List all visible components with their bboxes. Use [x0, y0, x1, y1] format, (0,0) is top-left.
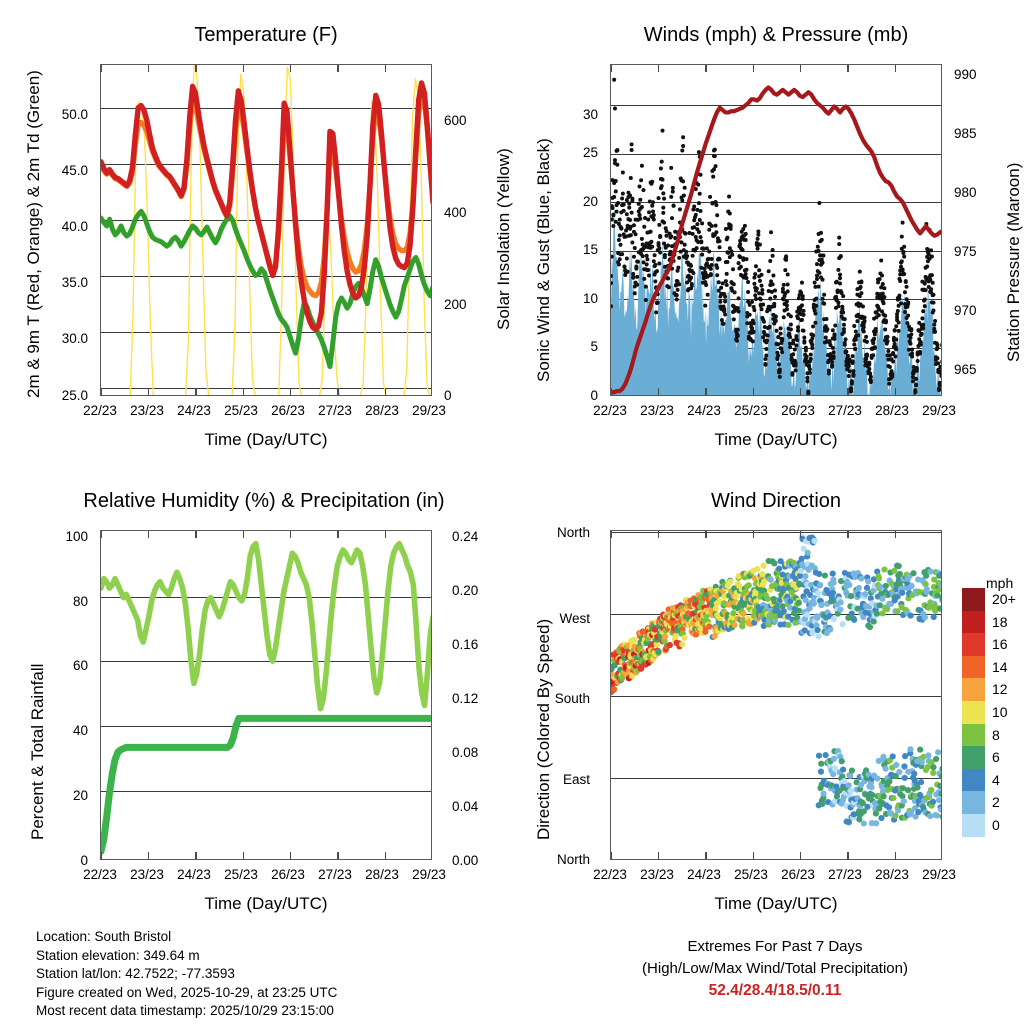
temperature-plot-area — [100, 64, 432, 396]
winds-ytick: 20 — [546, 194, 598, 209]
winds-xtick: 26/23 — [776, 403, 820, 418]
axis-tick — [753, 852, 754, 859]
colorbar-label: 4 — [992, 772, 1000, 788]
winds-y2tick: 970 — [954, 303, 977, 318]
colorbar-label: 14 — [992, 659, 1008, 675]
axis-tick — [753, 388, 754, 395]
axis-tick — [847, 531, 848, 538]
humidity-y2tick: 0.08 — [452, 745, 478, 760]
winddir-ytick: North — [512, 852, 590, 867]
winds-xtick: 29/23 — [917, 403, 961, 418]
winddir-points — [611, 531, 942, 860]
axis-tick — [337, 65, 338, 72]
colorbar-swatch — [962, 678, 985, 701]
humidity-y2tick: 0.16 — [452, 637, 478, 652]
axis-tick — [290, 531, 291, 538]
temperature-xtick: 26/23 — [266, 403, 310, 418]
axis-tick — [385, 852, 386, 859]
figure-created: Figure created on Wed, 2025-10-29, at 23… — [36, 984, 337, 1003]
axis-tick — [243, 65, 244, 72]
winddir-ytick: East — [512, 772, 590, 787]
axis-tick — [895, 852, 896, 859]
extremes-heading: Extremes For Past 7 Days — [560, 936, 990, 958]
winds-y2tick: 990 — [954, 67, 977, 82]
humidity-xtick: 22/23 — [78, 867, 122, 882]
station-info: Location: South Bristol Station elevatio… — [36, 928, 337, 1021]
winds-y2tick: 965 — [954, 362, 977, 377]
humidity-xtick: 26/23 — [266, 867, 310, 882]
winds-xtick: 28/23 — [870, 403, 914, 418]
temperature-xlabel: Time (Day/UTC) — [100, 430, 432, 450]
colorbar-label: 20+ — [992, 591, 1016, 607]
temperature-ytick: 45.0 — [36, 163, 88, 178]
axis-tick — [610, 65, 611, 72]
humidity-y2tick: 0.24 — [452, 529, 478, 544]
winds-xtick: 23/23 — [635, 403, 679, 418]
humidity-y2tick: 0.12 — [452, 691, 478, 706]
winddir-title: Wind Direction — [610, 490, 942, 513]
axis-tick — [148, 65, 149, 72]
winds-xtick: 22/23 — [588, 403, 632, 418]
axis-tick — [100, 388, 101, 395]
humidity-xlabel: Time (Day/UTC) — [100, 894, 432, 914]
axis-tick — [385, 388, 386, 395]
axis-tick — [100, 531, 101, 538]
colorbar-label: 2 — [992, 794, 1000, 810]
winds-y2tick: 975 — [954, 244, 977, 259]
axis-tick — [337, 531, 338, 538]
wind-speed-colorbar — [962, 588, 985, 837]
most-recent-timestamp: Most recent data timestamp: 2025/10/29 2… — [36, 1002, 337, 1021]
axis-tick — [753, 65, 754, 72]
winds-ytick: 0 — [546, 388, 598, 403]
winds-ytick: 10 — [546, 291, 598, 306]
axis-tick — [290, 852, 291, 859]
axis-tick — [658, 388, 659, 395]
colorbar-swatch — [962, 588, 985, 611]
humidity-xtick: 23/23 — [125, 867, 169, 882]
station-latlon: Station lat/lon: 42.7522; -77.3593 — [36, 965, 337, 984]
winds-ytick: 30 — [546, 107, 598, 122]
axis-tick — [705, 65, 706, 72]
axis-tick — [337, 388, 338, 395]
axis-tick — [243, 852, 244, 859]
extremes-values: 52.4/28.4/18.5/0.11 — [560, 980, 990, 1002]
axis-tick — [847, 388, 848, 395]
winds-series — [611, 65, 942, 396]
axis-tick — [705, 531, 706, 538]
winddir-plot-area — [610, 530, 942, 860]
humidity-xtick: 24/23 — [172, 867, 216, 882]
temperature-y2tick: 400 — [444, 205, 467, 220]
humidity-ytick: 80 — [36, 594, 88, 609]
axis-tick — [148, 852, 149, 859]
station-location: Location: South Bristol — [36, 928, 337, 947]
winds-plot-area — [610, 64, 942, 396]
axis-tick — [195, 388, 196, 395]
winddir-ylabel: Direction (Colored By Speed) — [534, 619, 554, 840]
colorbar-swatch — [962, 814, 985, 837]
colorbar-swatch — [962, 611, 985, 634]
colorbar-swatch — [962, 724, 985, 747]
axis-tick — [100, 65, 101, 72]
winds-y2tick: 980 — [954, 185, 977, 200]
temperature-ytick: 35.0 — [36, 275, 88, 290]
axis-tick — [895, 65, 896, 72]
colorbar-label: 16 — [992, 636, 1008, 652]
extremes-summary: Extremes For Past 7 Days (High/Low/Max W… — [560, 936, 990, 1002]
humidity-plot-area — [100, 530, 432, 860]
colorbar-swatch — [962, 656, 985, 679]
axis-tick — [800, 388, 801, 395]
winds-ytick: 5 — [546, 339, 598, 354]
humidity-ytick: 100 — [36, 529, 88, 544]
axis-tick — [610, 531, 611, 538]
temperature-y2tick: 600 — [444, 113, 467, 128]
humidity-xtick: 25/23 — [219, 867, 263, 882]
axis-tick — [290, 388, 291, 395]
humidity-y2tick: 0.00 — [452, 853, 478, 868]
humidity-y2tick: 0.20 — [452, 583, 478, 598]
axis-tick — [148, 531, 149, 538]
colorbar-title: mph — [986, 575, 1013, 591]
winddir-xlabel: Time (Day/UTC) — [610, 894, 942, 914]
axis-tick — [705, 388, 706, 395]
winds-xlabel: Time (Day/UTC) — [610, 430, 942, 450]
temperature-xtick: 28/23 — [360, 403, 404, 418]
winddir-xtick: 28/23 — [870, 867, 914, 882]
temperature-y2label: Solar Insolation (Yellow) — [494, 148, 514, 330]
winddir-xtick: 26/23 — [776, 867, 820, 882]
axis-tick — [658, 852, 659, 859]
humidity-xtick: 29/23 — [407, 867, 451, 882]
temperature-xtick: 25/23 — [219, 403, 263, 418]
axis-tick — [610, 388, 611, 395]
winddir-xtick: 27/23 — [823, 867, 867, 882]
winddir-ytick: South — [512, 691, 590, 706]
axis-tick — [800, 531, 801, 538]
axis-tick — [847, 65, 848, 72]
axis-tick — [705, 852, 706, 859]
winds-title: Winds (mph) & Pressure (mb) — [610, 24, 942, 47]
winds-ytick: 25 — [546, 145, 598, 160]
axis-tick — [610, 852, 611, 859]
winds-xtick: 27/23 — [823, 403, 867, 418]
temperature-ytick: 25.0 — [36, 388, 88, 403]
winddir-xtick: 29/23 — [917, 867, 961, 882]
axis-tick — [243, 531, 244, 538]
colorbar-label: 10 — [992, 704, 1008, 720]
humidity-ylabel: Percent & Total Rainfall — [28, 664, 48, 840]
temperature-xtick: 24/23 — [172, 403, 216, 418]
winddir-xtick: 24/23 — [682, 867, 726, 882]
axis-tick — [385, 65, 386, 72]
humidity-xtick: 27/23 — [313, 867, 357, 882]
winds-xtick: 25/23 — [729, 403, 773, 418]
axis-tick — [658, 531, 659, 538]
temperature-y2tick: 0 — [444, 388, 452, 403]
humidity-y2tick: 0.04 — [452, 799, 478, 814]
colorbar-label: 8 — [992, 727, 1000, 743]
humidity-ytick: 40 — [36, 723, 88, 738]
temperature-ytick: 40.0 — [36, 219, 88, 234]
temperature-title: Temperature (F) — [100, 24, 432, 47]
axis-tick — [385, 531, 386, 538]
winddir-xtick: 25/23 — [729, 867, 773, 882]
temperature-xtick: 23/23 — [125, 403, 169, 418]
colorbar-swatch — [962, 769, 985, 792]
axis-tick — [290, 65, 291, 72]
winddir-xtick: 23/23 — [635, 867, 679, 882]
colorbar-swatch — [962, 791, 985, 814]
colorbar-swatch — [962, 633, 985, 656]
axis-tick — [800, 65, 801, 72]
axis-tick — [100, 852, 101, 859]
colorbar-label: 0 — [992, 817, 1000, 833]
axis-tick — [895, 388, 896, 395]
humidity-ytick: 20 — [36, 788, 88, 803]
station-elevation: Station elevation: 349.64 m — [36, 947, 337, 966]
temperature-y2tick: 200 — [444, 297, 467, 312]
temperature-xtick: 27/23 — [313, 403, 357, 418]
axis-tick — [337, 852, 338, 859]
colorbar-label: 18 — [992, 614, 1008, 630]
axis-tick — [753, 531, 754, 538]
colorbar-label: 12 — [992, 681, 1008, 697]
temperature-ytick: 50.0 — [36, 107, 88, 122]
extremes-subheading: (High/Low/Max Wind/Total Precipitation) — [560, 958, 990, 980]
humidity-ytick: 60 — [36, 658, 88, 673]
humidity-title: Relative Humidity (%) & Precipitation (i… — [14, 490, 514, 513]
winddir-ytick: West — [512, 611, 590, 626]
axis-tick — [895, 531, 896, 538]
axis-tick — [195, 531, 196, 538]
winds-xtick: 24/23 — [682, 403, 726, 418]
temperature-xtick: 22/23 — [78, 403, 122, 418]
temperature-xtick: 29/23 — [407, 403, 451, 418]
colorbar-swatch — [962, 746, 985, 769]
humidity-series — [101, 531, 432, 860]
winds-y2label: Station Pressure (Maroon) — [1004, 163, 1024, 362]
axis-tick — [658, 65, 659, 72]
axis-tick — [195, 65, 196, 72]
axis-tick — [148, 388, 149, 395]
temperature-series — [101, 65, 432, 396]
axis-tick — [847, 852, 848, 859]
axis-tick — [243, 388, 244, 395]
humidity-xtick: 28/23 — [360, 867, 404, 882]
axis-tick — [800, 852, 801, 859]
temperature-ytick: 30.0 — [36, 331, 88, 346]
winds-ytick: 15 — [546, 242, 598, 257]
winds-y2tick: 985 — [954, 126, 977, 141]
colorbar-swatch — [962, 701, 985, 724]
winddir-ytick: North — [512, 525, 590, 540]
humidity-ytick: 0 — [36, 853, 88, 868]
winddir-xtick: 22/23 — [588, 867, 632, 882]
axis-tick — [195, 852, 196, 859]
colorbar-label: 6 — [992, 749, 1000, 765]
